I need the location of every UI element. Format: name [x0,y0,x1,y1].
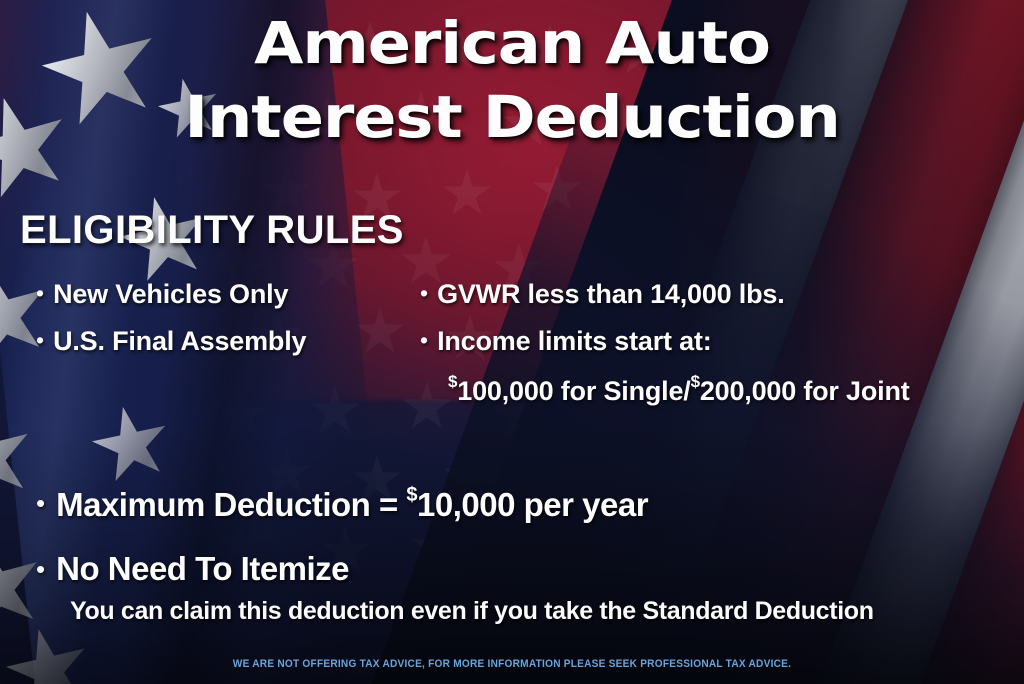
list-item: • Maximum Deduction = $10,000 per year [36,484,648,524]
max-deduction-line: Maximum Deduction = $10,000 per year [56,484,648,524]
currency-symbol-joint: $ [691,372,700,391]
bullet-icon: • [36,279,44,305]
joint-label: for Joint [796,376,910,406]
no-itemize-note: You can claim this deduction even if you… [70,597,874,626]
title-line-1: American Auto [0,14,1024,72]
bullet-icon: • [36,550,45,582]
list-item-label: Income limits start at: [437,326,711,357]
list-item-label: GVWR less than 14,000 lbs. [437,279,784,310]
joint-amount: 200,000 [700,376,796,406]
section-heading: ELIGIBILITY RULES [20,208,404,253]
poster-content: American Auto Interest Deduction ELIGIBI… [0,0,1024,684]
max-deduction-suffix: per year [515,486,648,523]
income-limits-line: $100,000 for Single/$200,000 for Joint [448,372,910,407]
list-item: • Income limits start at: [420,326,712,357]
bullet-icon: • [420,279,428,305]
list-item: • GVWR less than 14,000 lbs. [420,279,785,310]
poster-canvas: American Auto Interest Deduction ELIGIBI… [0,0,1024,684]
bullet-icon: • [36,326,44,352]
bullet-icon: • [420,326,428,352]
max-deduction-prefix: Maximum Deduction = [56,486,406,523]
title-line-2: Interest Deduction [0,88,1024,146]
currency-symbol-single: $ [448,372,457,391]
list-item: • No Need To Itemize [36,550,349,588]
no-itemize-label: No Need To Itemize [56,550,349,588]
disclaimer-text: WE ARE NOT OFFERING TAX ADVICE, FOR MORE… [41,658,983,670]
list-item: • U.S. Final Assembly [36,326,306,357]
bullet-icon: • [36,484,45,516]
list-item: • New Vehicles Only [36,279,288,310]
currency-symbol-max: $ [406,484,417,506]
single-amount: 100,000 [457,376,553,406]
single-label: for Single/ [553,376,690,406]
list-item-label: New Vehicles Only [53,279,288,310]
list-item-label: U.S. Final Assembly [53,326,306,357]
max-deduction-amount: 10,000 [417,486,515,523]
